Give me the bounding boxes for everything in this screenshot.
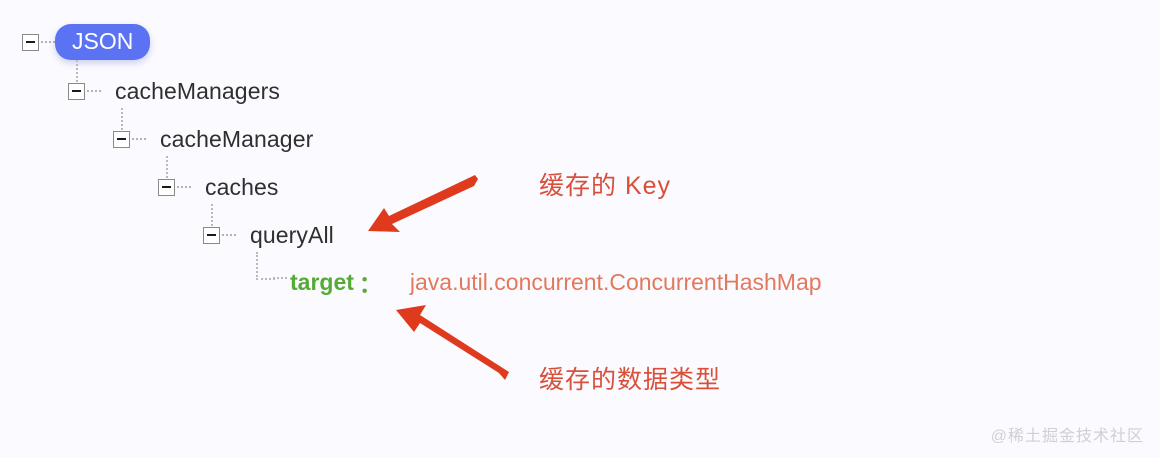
tree-connector-stub [87,90,101,93]
annotation-label-key: 缓存的 Key [539,166,671,202]
watermark: @稀土掘金技术社区 [991,422,1144,446]
diagram-canvas: JSON cacheManagers cacheManager caches [0,0,1160,458]
tree-row-cachemanagers[interactable]: cacheManagers [68,74,280,108]
tree-connector-stub [222,234,236,237]
annotation-arrow-datatype [396,305,509,380]
collapse-minus-box-icon[interactable] [203,227,220,244]
tree-connector-stub [177,186,191,189]
collapse-minus-box-icon[interactable] [113,131,130,148]
tree-connector-elbow [256,252,275,280]
tree-row-root[interactable]: JSON [22,25,150,59]
leaf-value-label: java.util.concurrent.ConcurrentHashMap [410,269,822,296]
annotation-label-datatype: 缓存的数据类型 [539,360,721,396]
collapse-minus-box-icon[interactable] [68,83,85,100]
collapse-minus-box-icon[interactable] [22,34,39,51]
leaf-separator: ： [359,265,382,299]
tree-connector-stub [132,138,146,141]
leaf-key-label: target [290,269,354,296]
tree-node-label: cacheManagers [115,78,280,105]
tree-connector-stub [41,41,55,44]
tree-row-cachemanager[interactable]: cacheManager [113,122,313,156]
json-root-badge[interactable]: JSON [55,24,150,60]
tree-node-label: queryAll [250,222,334,249]
tree-row-caches[interactable]: caches [158,170,278,204]
tree-connector-stub [273,277,287,279]
collapse-minus-box-icon[interactable] [158,179,175,196]
tree-node-label: caches [205,174,278,201]
tree-node-label: cacheManager [160,126,313,153]
annotation-arrow-key [368,175,478,232]
tree-row-target[interactable]: target ： java.util.concurrent.Concurrent… [290,265,822,299]
tree-row-queryall[interactable]: queryAll [203,218,334,252]
